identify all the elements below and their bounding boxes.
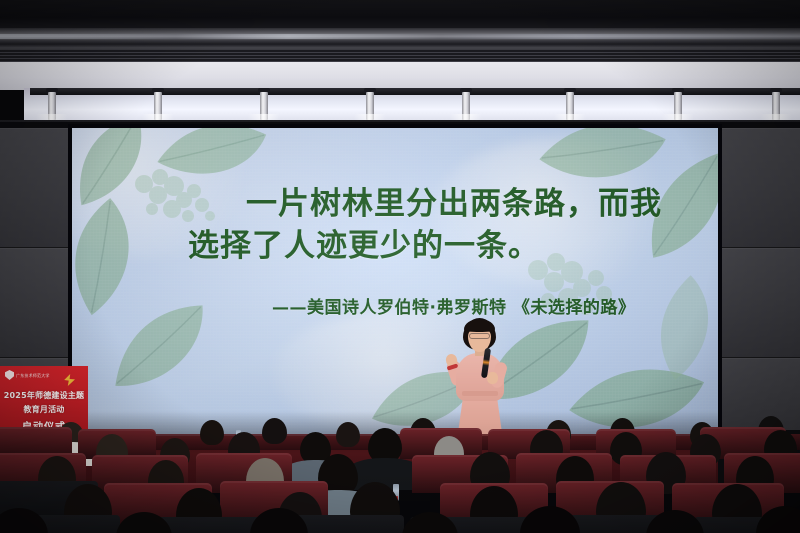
slide-text-block: 一片树林里分出两条路，而我 选择了人迹更少的一条。 ——美国诗人罗伯特·弗罗斯特… [72, 128, 718, 437]
projection-screen-frame: 一片树林里分出两条路，而我 选择了人迹更少的一条。 ——美国诗人罗伯特·弗罗斯特… [68, 124, 722, 441]
projection-screen: 一片树林里分出两条路，而我 选择了人迹更少的一条。 ——美国诗人罗伯特·弗罗斯特… [72, 128, 718, 437]
spotlight-fixture [772, 92, 780, 120]
audience-area [0, 412, 800, 533]
university-logo: 广东技术师范大学 [5, 370, 50, 380]
spotlight-fixture [566, 92, 574, 120]
speaker-waistline [462, 391, 498, 396]
spotlight-fixture [48, 92, 56, 120]
auditorium-scene: 一片树林里分出两条路，而我 选择了人迹更少的一条。 ——美国诗人罗伯特·弗罗斯特… [0, 0, 800, 533]
wall-panel [722, 128, 800, 248]
banner-line-1: 2025年师德建设主题 [0, 390, 88, 401]
quote-attribution: ——美国诗人罗伯特·弗罗斯特 《未选择的路》 [272, 296, 712, 320]
speaker-glasses [469, 333, 490, 339]
audience-head [336, 422, 360, 447]
spotlight-fixture [674, 92, 682, 120]
university-logo-text: 广东技术师范大学 [16, 373, 50, 378]
audience-head [200, 420, 224, 445]
wall-panel [722, 248, 800, 358]
speaker-hair-fringe [464, 319, 495, 332]
wall-panel [0, 248, 70, 358]
quote-line-2: 选择了人迹更少的一条。 [188, 226, 718, 266]
wall-panel [0, 128, 70, 248]
shield-icon [5, 370, 14, 380]
spotlight-fixture [462, 92, 470, 120]
spotlight-fixture [366, 92, 374, 120]
bird-emblem-icon [63, 374, 75, 386]
lighting-track-rail [30, 88, 800, 95]
audience-head [262, 418, 287, 444]
ceiling-dark-band [0, 0, 800, 30]
spotlight-fixture [260, 92, 268, 120]
spotlight-fixture [154, 92, 162, 120]
ceiling-soffit [0, 62, 800, 90]
quote-line-1: 一片树林里分出两条路，而我 [188, 184, 718, 224]
speaker-right-hand [487, 372, 498, 384]
